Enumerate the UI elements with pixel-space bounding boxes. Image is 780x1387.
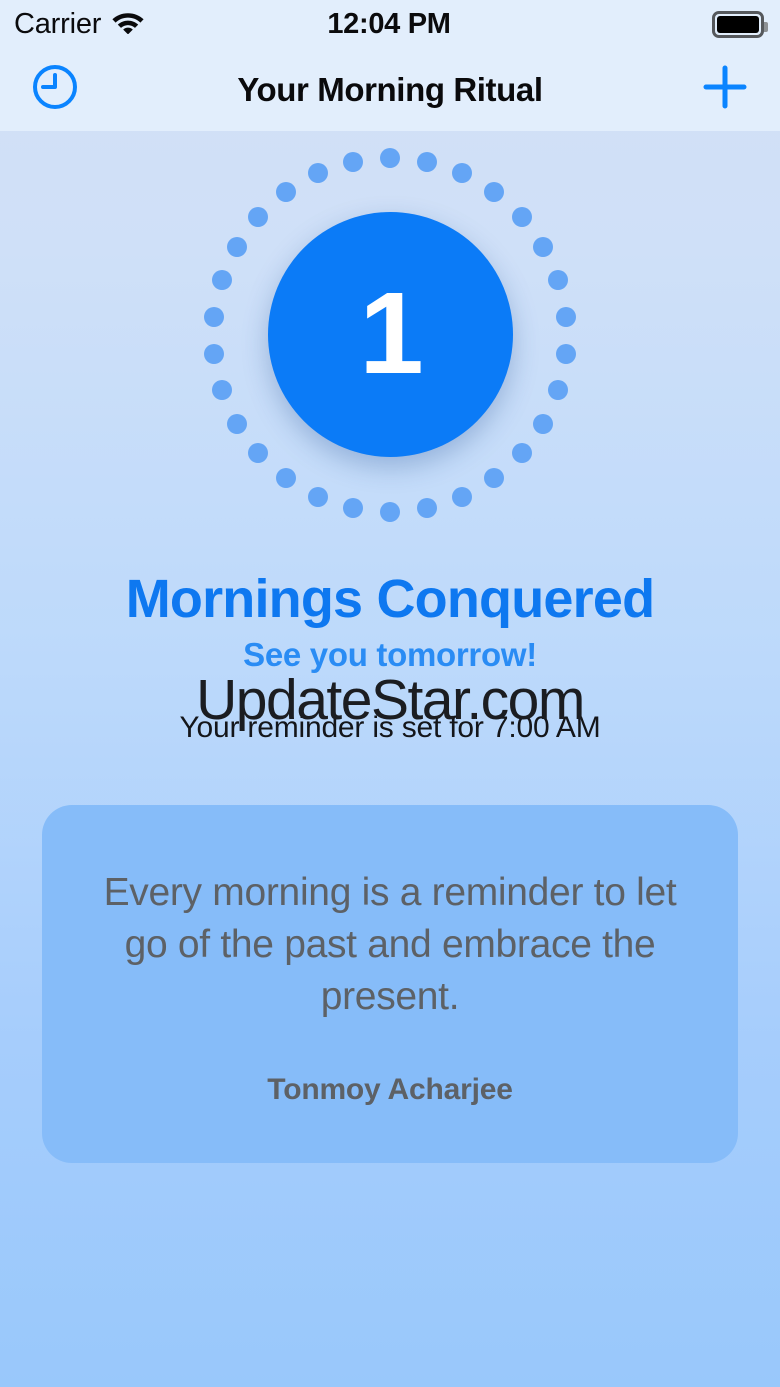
- progress-ring-dot: [204, 344, 224, 364]
- nav-bar: Your Morning Ritual: [0, 48, 780, 131]
- plus-icon: [698, 60, 752, 119]
- progress-ring-dot: [556, 307, 576, 327]
- progress-ring-dot: [308, 487, 328, 507]
- app-screen: Carrier 12:04 PM: [0, 0, 780, 1387]
- status-bar-right: [524, 11, 764, 38]
- progress-ring-dot: [227, 237, 247, 257]
- progress-ring-dot: [212, 270, 232, 290]
- progress-ring-dot: [533, 237, 553, 257]
- progress-ring-dot: [452, 487, 472, 507]
- progress-ring-dot: [227, 414, 247, 434]
- wifi-icon: [111, 9, 145, 39]
- progress-ring-dot: [548, 270, 568, 290]
- progress-ring-dot: [343, 498, 363, 518]
- add-ritual-button[interactable]: [670, 60, 780, 119]
- progress-ring-dot: [512, 443, 532, 463]
- page-title: Your Morning Ritual: [110, 71, 670, 109]
- quote-card[interactable]: Every morning is a reminder to let go of…: [42, 805, 738, 1163]
- progress-ring-dot: [484, 182, 504, 202]
- battery-full-icon: [712, 11, 764, 38]
- progress-ring-dot: [380, 148, 400, 168]
- reminder-text: Your reminder is set for 7:00 AM: [0, 711, 780, 745]
- status-bar-time: 12:04 PM: [254, 8, 524, 41]
- clock-icon: [30, 62, 80, 117]
- progress-ring-dot: [452, 163, 472, 183]
- progress-ring-dot: [556, 344, 576, 364]
- progress-ring-dot: [417, 152, 437, 172]
- progress-ring-dot: [484, 468, 504, 488]
- progress-ring-dot: [276, 468, 296, 488]
- progress-ring-dot: [548, 380, 568, 400]
- carrier-label: Carrier: [14, 8, 101, 41]
- battery-level-fill: [717, 16, 759, 33]
- progress-ring-dot: [417, 498, 437, 518]
- progress-ring-dot: [380, 502, 400, 522]
- quote-text: Every morning is a reminder to let go of…: [90, 867, 690, 1023]
- progress-ring-dot: [308, 163, 328, 183]
- streak-count: 1: [359, 275, 422, 391]
- history-button[interactable]: [0, 62, 110, 117]
- progress-ring-dot: [204, 307, 224, 327]
- progress-ring-dot: [512, 207, 532, 227]
- status-bar-left: Carrier: [14, 8, 254, 41]
- progress-ring-dot: [276, 182, 296, 202]
- progress-ring-dot: [212, 380, 232, 400]
- progress-ring-dot: [248, 207, 268, 227]
- status-bar: Carrier 12:04 PM: [0, 0, 780, 48]
- headline-subtitle: See you tomorrow!: [0, 636, 780, 674]
- streak-circle[interactable]: 1: [268, 212, 513, 457]
- progress-ring-dot: [533, 414, 553, 434]
- progress-ring-dot: [248, 443, 268, 463]
- progress-ring-dot: [343, 152, 363, 172]
- headline-title: Mornings Conquered: [0, 568, 780, 630]
- quote-author: Tonmoy Acharjee: [267, 1073, 512, 1107]
